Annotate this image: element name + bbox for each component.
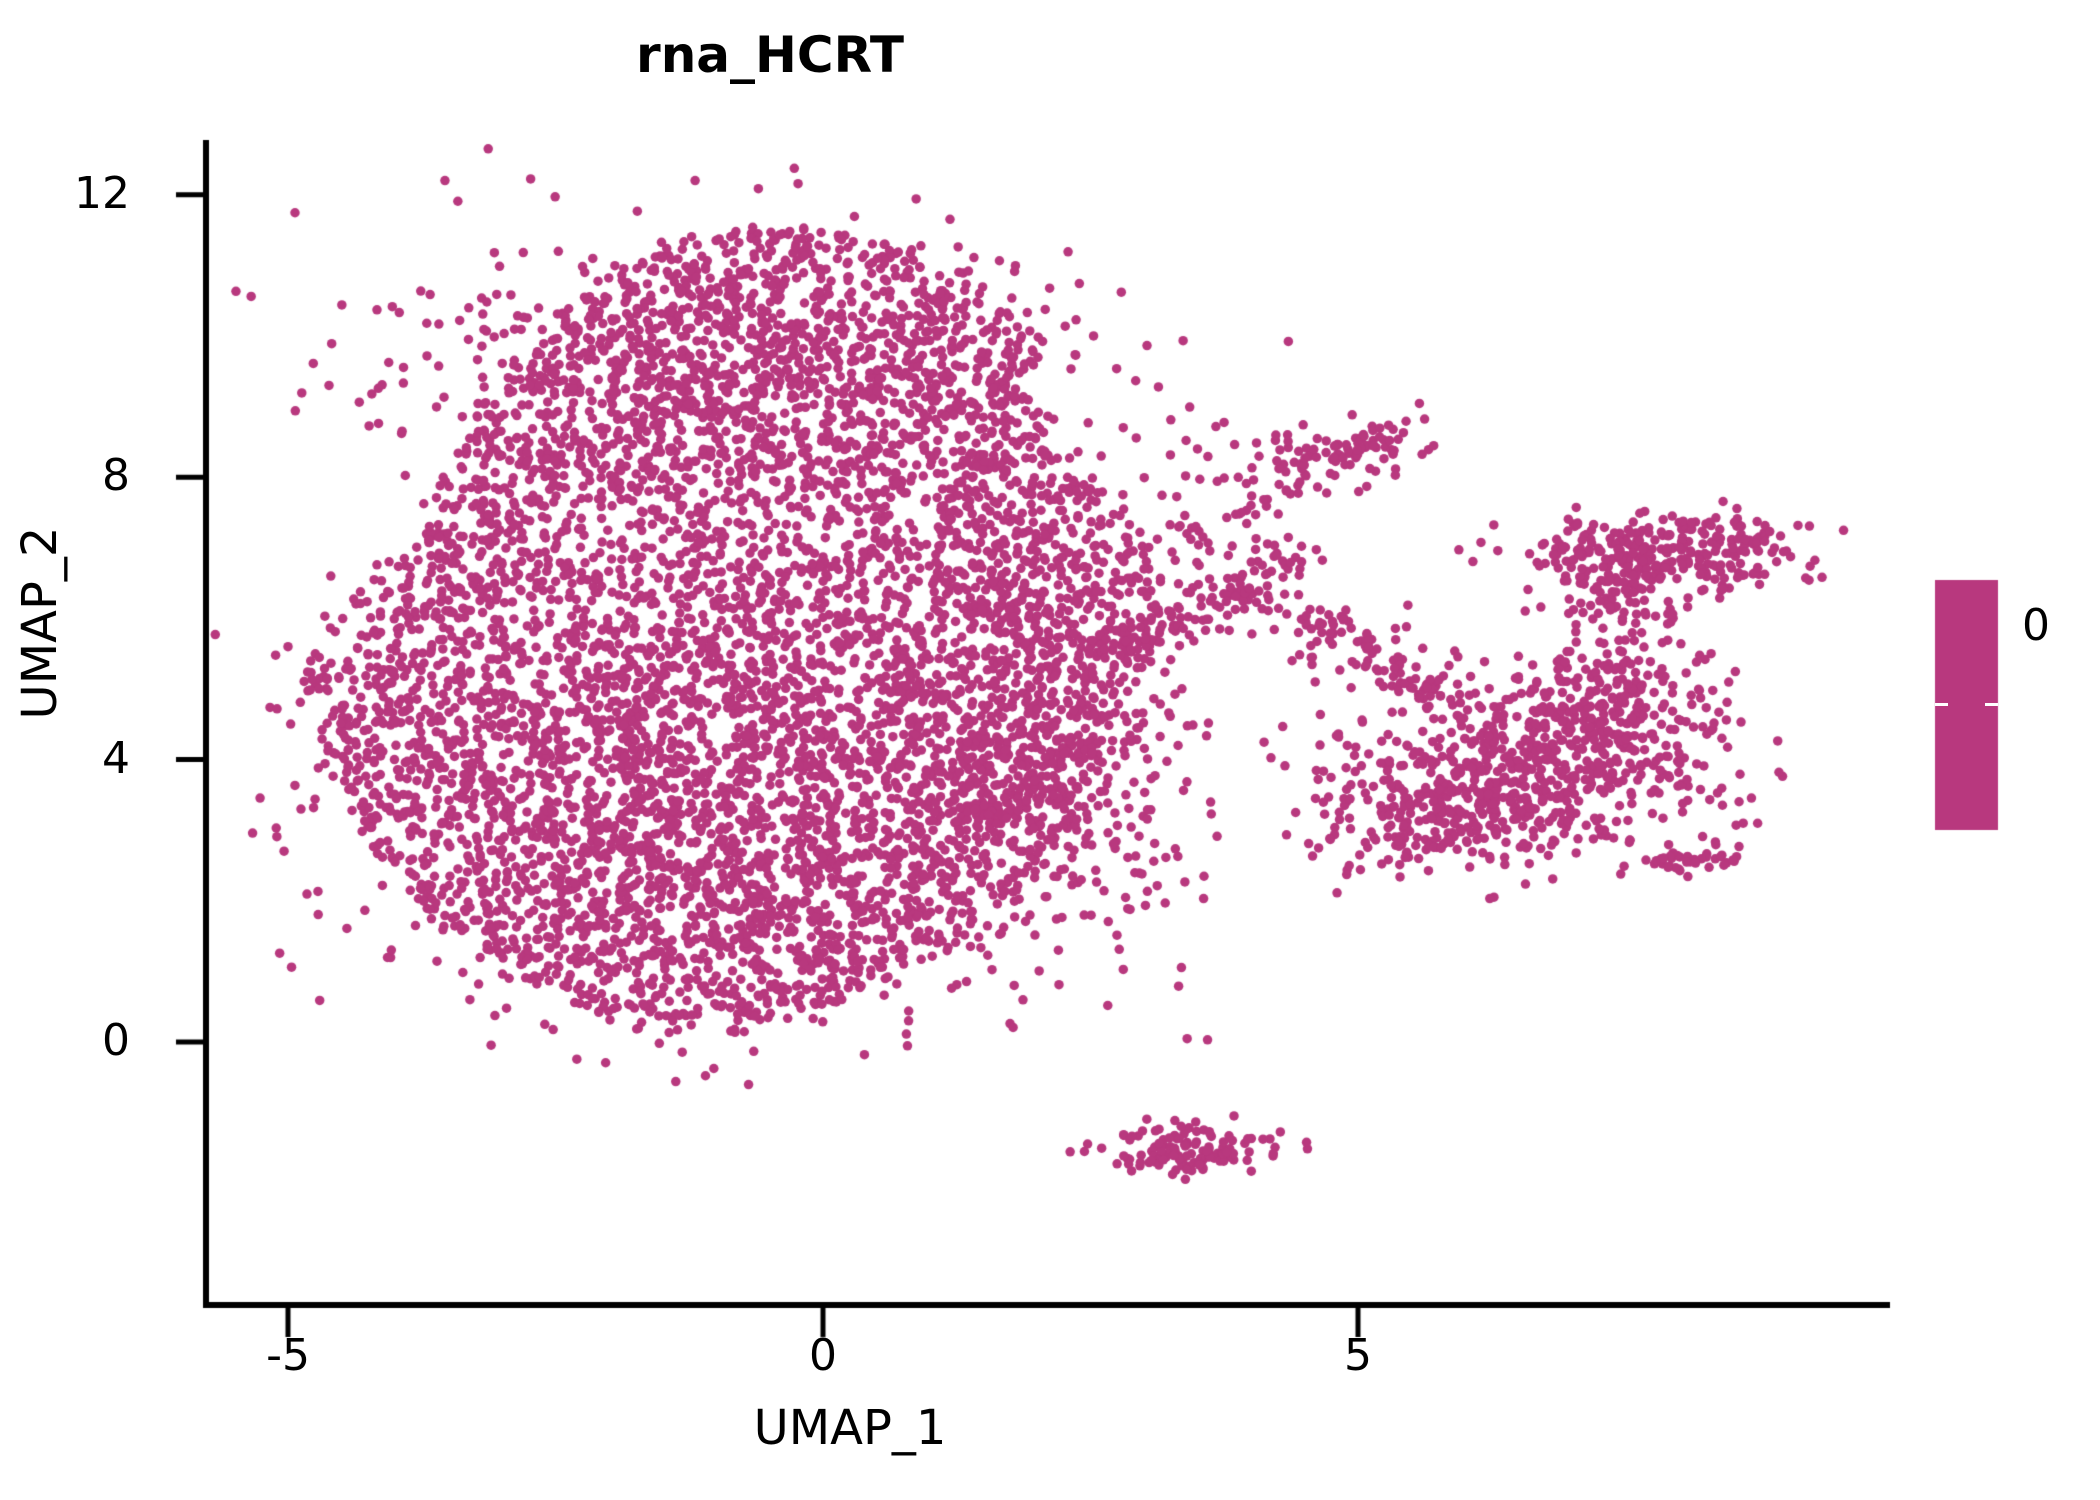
- colorbar-tick-label-0: 0: [2022, 600, 2050, 651]
- x-tick-label-0: 0: [763, 1330, 883, 1381]
- colorbar[interactable]: [1935, 580, 1998, 830]
- x-tick-label-5: 5: [1298, 1330, 1418, 1381]
- x-tick-label-minus5: -5: [228, 1330, 348, 1381]
- scatter-plot-canvas: [0, 0, 2100, 1500]
- y-axis-label: UMAP_2: [12, 423, 68, 823]
- y-tick-label-0: 0: [0, 1015, 130, 1066]
- x-axis-label: UMAP_1: [650, 1400, 1050, 1456]
- umap-scatter-figure: rna_HCRT 12 8 4 0 -5 0 5 UMAP_1 UMAP_2 0: [0, 0, 2100, 1500]
- colorbar-tick-right: [1985, 703, 1998, 706]
- y-tick-label-12: 12: [0, 168, 130, 219]
- colorbar-tick-left: [1935, 703, 1948, 706]
